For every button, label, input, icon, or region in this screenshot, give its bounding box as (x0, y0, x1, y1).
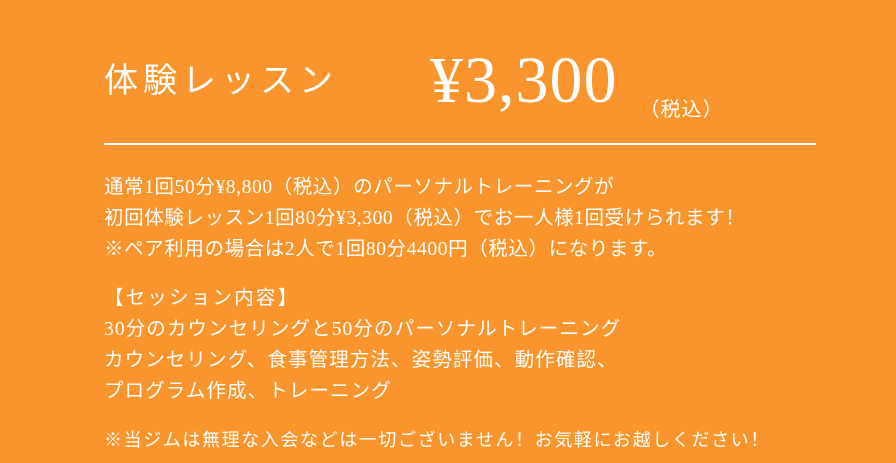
promo-body: 通常1回50分¥8,800（税込）のパーソナルトレーニングが 初回体験レッスン1… (104, 172, 844, 455)
pricing-line: 初回体験レッスン1回80分¥3,300（税込）でお一人様1回受けられます！ (104, 203, 844, 234)
closing-note-line: ※当ジムは無理な入会などは一切ございません！お気軽にお越しください！ (104, 425, 844, 455)
session-heading: 【セッション内容】 (104, 283, 844, 314)
price-amount: ¥3,300 (430, 44, 618, 117)
session-line: 30分のカウンセリングと50分のパーソナルトレーニング (104, 314, 844, 345)
pricing-line: ※ペア利用の場合は2人で1回80分4400円（税込）になります。 (104, 234, 844, 265)
pricing-paragraph: 通常1回50分¥8,800（税込）のパーソナルトレーニングが 初回体験レッスン1… (104, 172, 844, 265)
session-line: カウンセリング、食事管理方法、姿勢評価、動作確認、 (104, 345, 844, 376)
price-tax-note: （税込） (640, 99, 724, 121)
header-divider (104, 143, 816, 145)
pricing-line: 通常1回50分¥8,800（税込）のパーソナルトレーニングが (104, 172, 844, 203)
trial-lesson-promo-card: 体験レッスン ¥3,300（税込） 通常1回50分¥8,800（税込）のパーソナ… (0, 0, 896, 463)
session-paragraph: 【セッション内容】 30分のカウンセリングと50分のパーソナルトレーニング カウ… (104, 283, 844, 407)
session-line: プログラム作成、トレーニング (104, 376, 844, 407)
price-block: ¥3,300（税込） (430, 48, 724, 114)
page-title: 体験レッスン (104, 62, 338, 103)
closing-note-paragraph: ※当ジムは無理な入会などは一切ございません！お気軽にお越しください！ (104, 425, 844, 455)
promo-header: 体験レッスン ¥3,300（税込） (0, 60, 896, 132)
